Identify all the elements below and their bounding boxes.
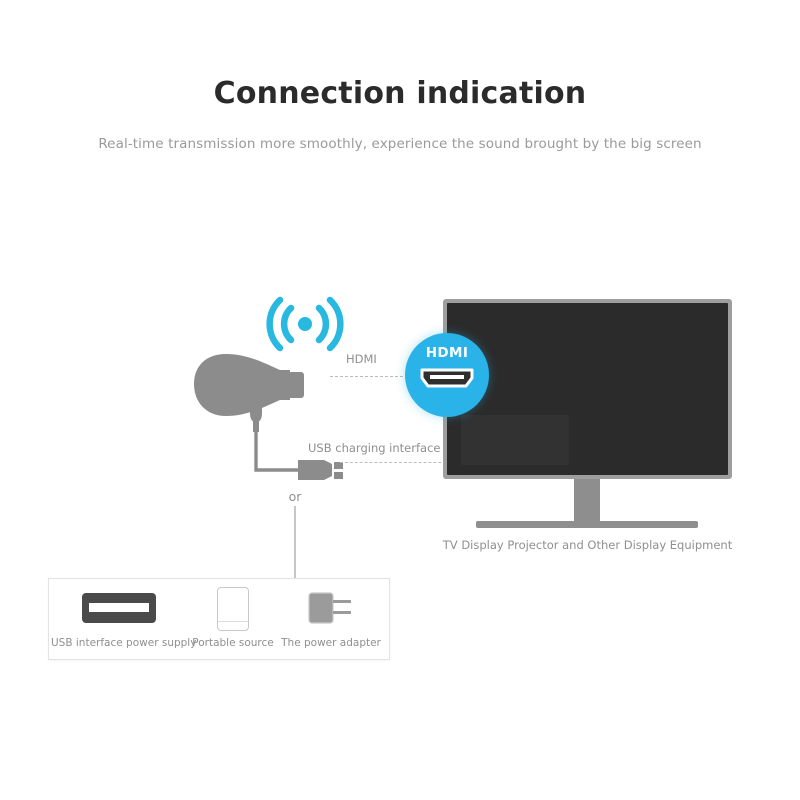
hdmi-badge-label: HDMI [405, 345, 489, 361]
power-option-label: USB interface power supply [51, 637, 187, 649]
usb-link-label: USB charging interface [308, 441, 440, 455]
or-label: or [275, 489, 315, 504]
tv-screen [447, 303, 728, 475]
tv-stand-base [476, 521, 698, 528]
power-option-usb: USB interface power supply [51, 579, 187, 659]
usb-port-icon [51, 587, 187, 627]
power-option-label: Portable source [185, 637, 281, 649]
connection-diagram: HDMI USB charging interface or HDMI [0, 0, 800, 800]
tv-screen-content [461, 415, 569, 465]
tv-stand-neck [574, 479, 600, 523]
tv-display [443, 299, 732, 537]
connection-indication-page: Connection indication Real-time transmis… [0, 0, 800, 800]
wifi-signal-icon [255, 296, 355, 352]
or-connector-line [294, 506, 296, 578]
usb-dashed-line [340, 462, 456, 463]
power-option-adapter: The power adapter [275, 579, 387, 659]
hdmi-link-label: HDMI [346, 352, 377, 366]
hdmi-port-icon [419, 367, 475, 389]
usb-charging-link: USB charging interface [308, 441, 458, 477]
power-options-box: USB interface power supply Portable sour… [48, 578, 390, 660]
power-adapter-icon [275, 587, 387, 627]
power-option-portable: Portable source [185, 579, 281, 659]
power-option-label: The power adapter [275, 637, 387, 649]
power-bank-icon [185, 587, 281, 627]
hdmi-port-badge: HDMI [405, 333, 489, 417]
tv-caption: TV Display Projector and Other Display E… [405, 538, 770, 552]
